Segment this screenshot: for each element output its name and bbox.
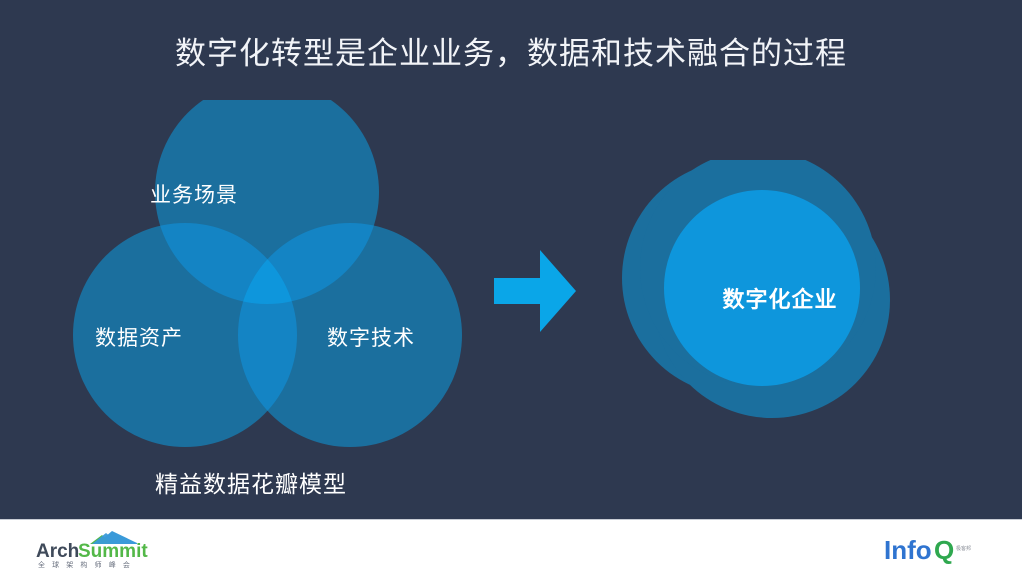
archsummit-word-two: Summit [78, 541, 148, 562]
presentation-slide: 数字化转型是企业业务，数据和技术融合的过程 [0, 0, 1022, 574]
slide-canvas: 数字化转型是企业业务，数据和技术融合的过程 [0, 0, 1022, 519]
venn-shapes [70, 100, 490, 460]
right-arrow-icon [492, 248, 578, 334]
page-title: 数字化转型是企业业务，数据和技术融合的过程 [0, 28, 1022, 73]
venn-caption: 精益数据花瓣模型 [155, 465, 347, 499]
infoq-mark: 极客邦 [956, 545, 971, 552]
infoq-word-one: Info [884, 535, 932, 565]
venn-label-right: 数字技术 [327, 322, 415, 352]
petal-label: 数字化企业 [690, 282, 870, 314]
archsummit-word-one: Arch [36, 541, 79, 562]
archsummit-subtitle: 全 球 架 构 师 峰 会 [38, 560, 132, 569]
infoq-logo: Info Q 极客邦 [884, 534, 1002, 566]
venn-diagram: 业务场景 数据资产 数字技术 [70, 100, 490, 460]
archsummit-logo: Arch Summit 全 球 架 构 师 峰 会 [36, 531, 168, 569]
infoq-word-two: Q [934, 535, 954, 565]
petal-diagram: 数字化企业 [612, 160, 900, 428]
venn-label-left: 数据资产 [95, 322, 183, 352]
venn-label-top: 业务场景 [150, 179, 238, 209]
